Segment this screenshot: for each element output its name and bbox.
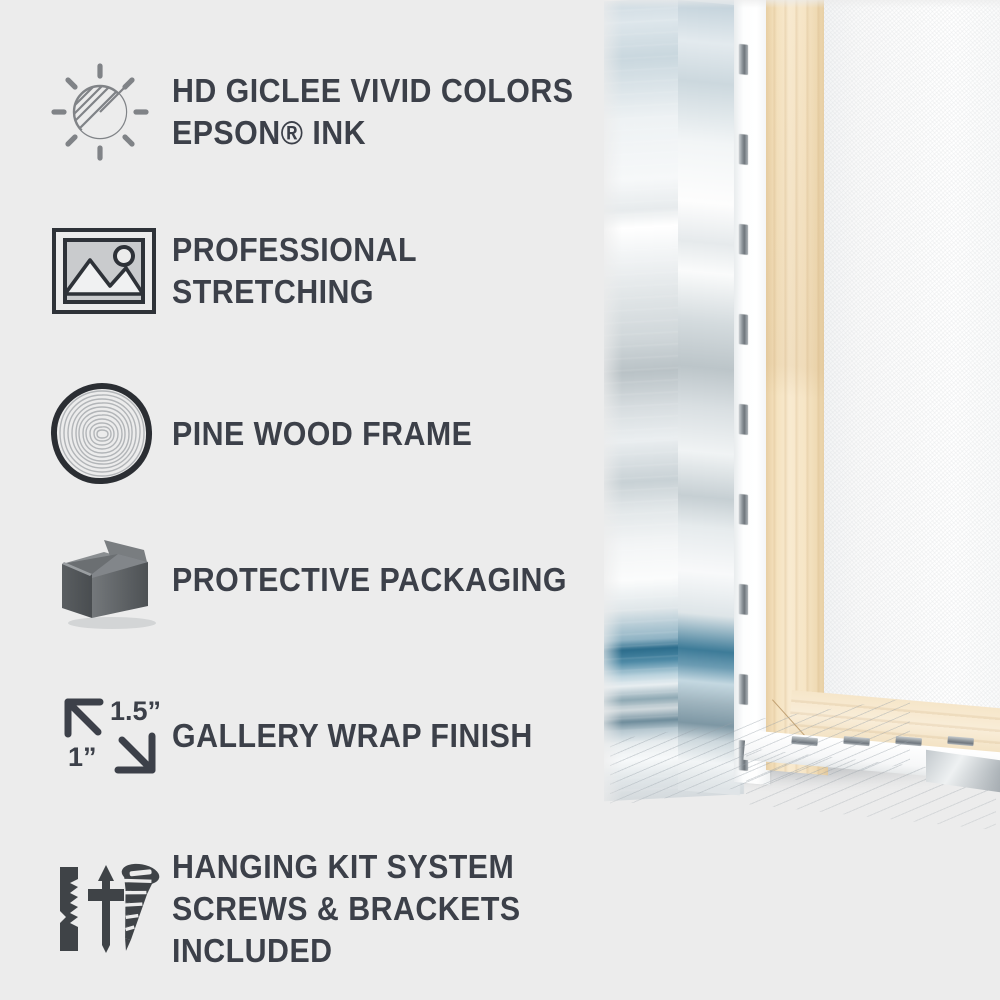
- staple-row-vertical: [738, 40, 754, 771]
- photo-fade-top: [596, 0, 1000, 8]
- icon-container: [48, 60, 172, 164]
- dimension-label-depth: 1.5”: [110, 696, 161, 727]
- feature-label: PINE WOOD FRAME: [172, 413, 472, 455]
- feature-label: GALLERY WRAP FINISH: [172, 715, 533, 757]
- feature-row-gallery-wrap-finish: 1.5” 1” GALLERY WRAP FINISH: [48, 688, 564, 784]
- staple: [739, 494, 748, 525]
- canvas-back-surface: [824, 0, 1000, 767]
- open-box-icon: [48, 530, 166, 630]
- icon-container: [48, 530, 172, 630]
- feature-row-hanging-kit: HANGING KIT SYSTEM SCREWS & BRACKETS INC…: [48, 846, 620, 973]
- staple: [739, 404, 748, 435]
- product-feature-graphic: HD GICLEE VIVID COLORS EPSON® INK PROFES…: [0, 0, 1000, 1000]
- feature-list: HD GICLEE VIVID COLORS EPSON® INK PROFES…: [0, 0, 620, 1000]
- icon-container: [48, 861, 172, 957]
- tree-rings-icon: [48, 382, 156, 486]
- printed-canvas-artwork-edge-angled: [678, 0, 740, 795]
- hanging-hardware-icon: [48, 861, 166, 957]
- canvas-print-photo: [596, 0, 1000, 1000]
- feature-label: PROTECTIVE PACKAGING: [172, 559, 567, 601]
- dimension-label-width: 1”: [68, 742, 97, 773]
- feature-row-pine-wood-frame: PINE WOOD FRAME: [48, 382, 499, 486]
- feature-label: HANGING KIT SYSTEM SCREWS & BRACKETS INC…: [172, 846, 584, 973]
- feature-label: HD GICLEE VIVID COLORS EPSON® INK: [172, 70, 573, 154]
- icon-container: [48, 224, 172, 318]
- photo-fade-bottom: [596, 770, 1000, 1000]
- feature-label: PROFESSIONAL STRETCHING: [172, 229, 584, 313]
- staple: [739, 44, 748, 75]
- icon-container: [48, 382, 172, 486]
- staple: [739, 674, 748, 705]
- staple: [739, 134, 748, 165]
- staple: [739, 314, 748, 345]
- staple: [739, 584, 748, 615]
- sun-icon: [48, 60, 152, 164]
- framed-picture-icon: [48, 224, 160, 318]
- feature-row-hd-giclee: HD GICLEE VIVID COLORS EPSON® INK: [48, 60, 608, 164]
- feature-row-protective-packaging: PROTECTIVE PACKAGING: [48, 530, 601, 630]
- feature-row-professional-stretching: PROFESSIONAL STRETCHING: [48, 224, 620, 318]
- icon-container: 1.5” 1”: [48, 688, 172, 784]
- staple: [739, 224, 748, 255]
